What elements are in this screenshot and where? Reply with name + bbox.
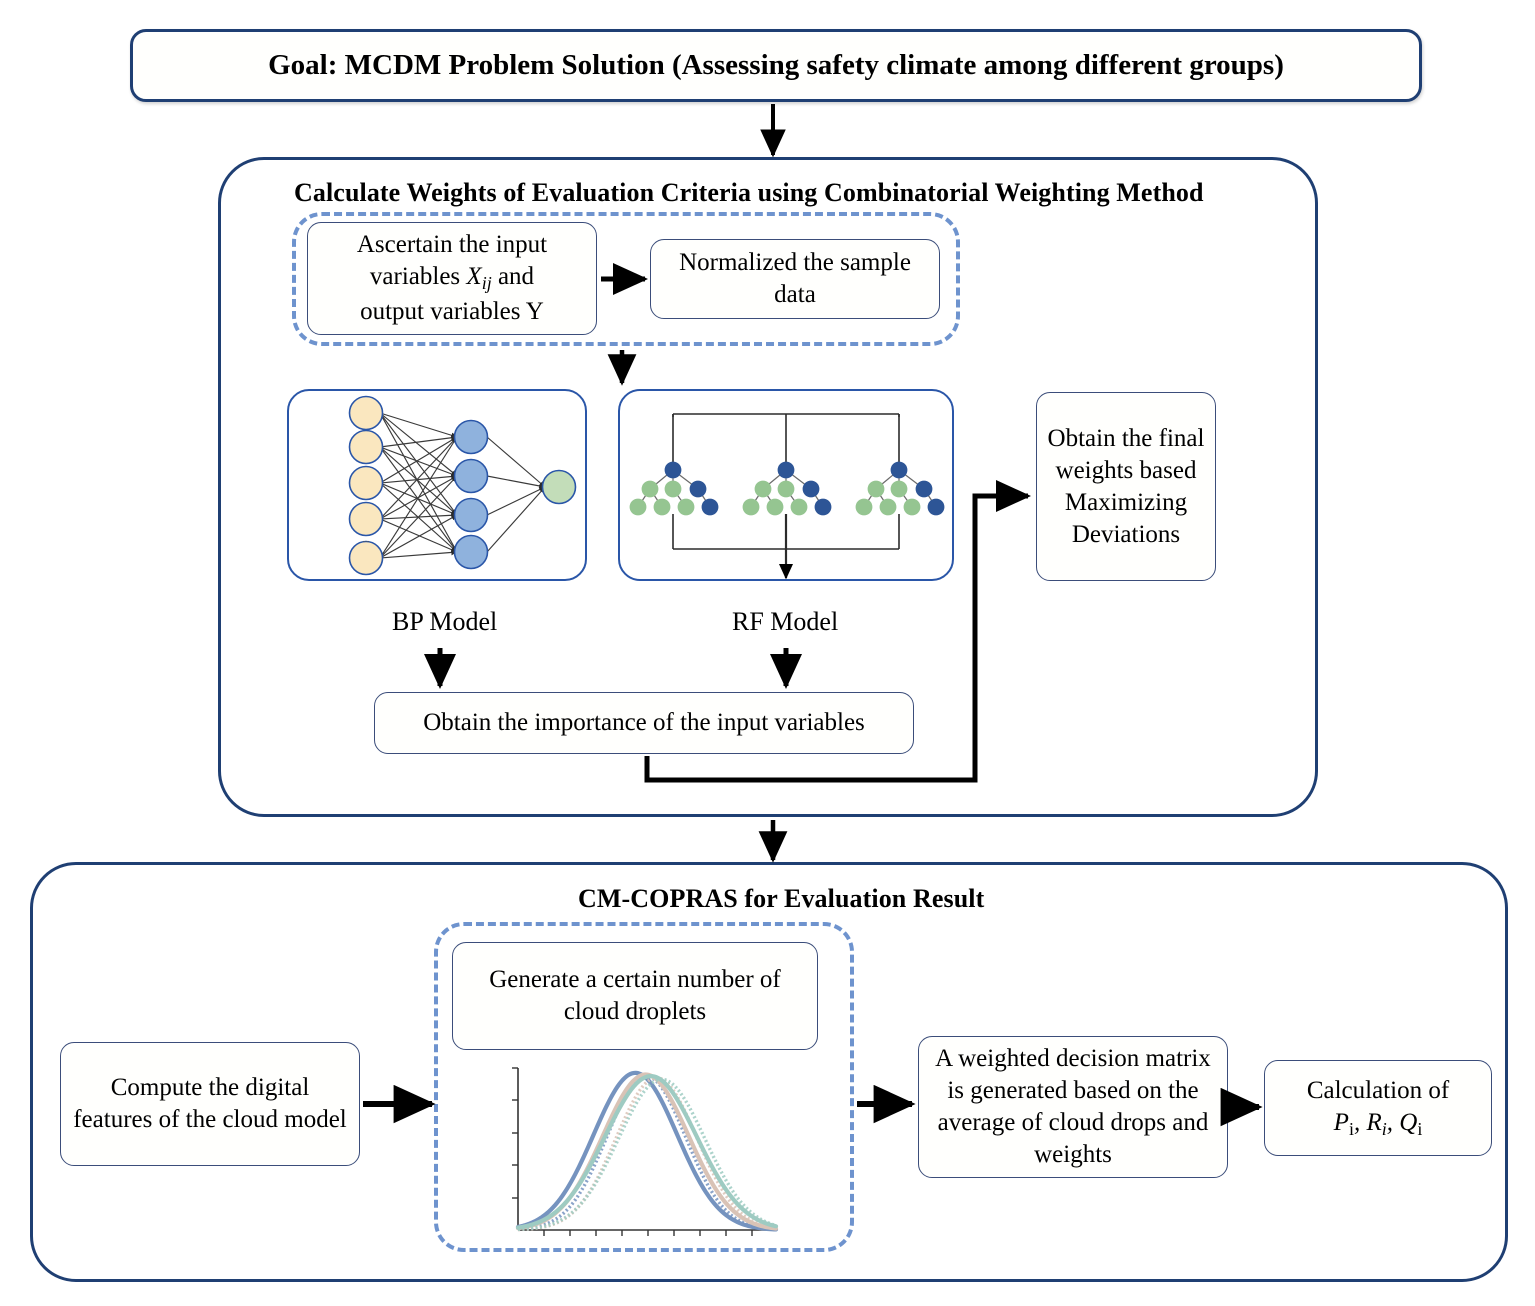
connector-layer: ... [0, 0, 1535, 1306]
chart-y-ticks [512, 1068, 518, 1198]
connector-importance-to-final-weights [647, 496, 1028, 780]
bp-input-ellipsis: ... [363, 534, 370, 544]
cloud-droplet-chart [512, 1068, 776, 1236]
rf-tree-3 [856, 462, 945, 516]
rf-top-bus [673, 414, 899, 465]
rf-tree-1 [630, 462, 719, 516]
cloud-curve-green-droplets [518, 1079, 776, 1229]
cloud-curves-group [518, 1073, 776, 1230]
rf-tree-2 [743, 462, 832, 516]
bp-output-node [543, 471, 576, 504]
chart-x-ticks [544, 1230, 752, 1236]
bp-hidden-nodes [455, 421, 488, 569]
diagram-canvas: Goal: MCDM Problem Solution (Assessing s… [0, 0, 1535, 1306]
bp-input-nodes [350, 397, 383, 575]
